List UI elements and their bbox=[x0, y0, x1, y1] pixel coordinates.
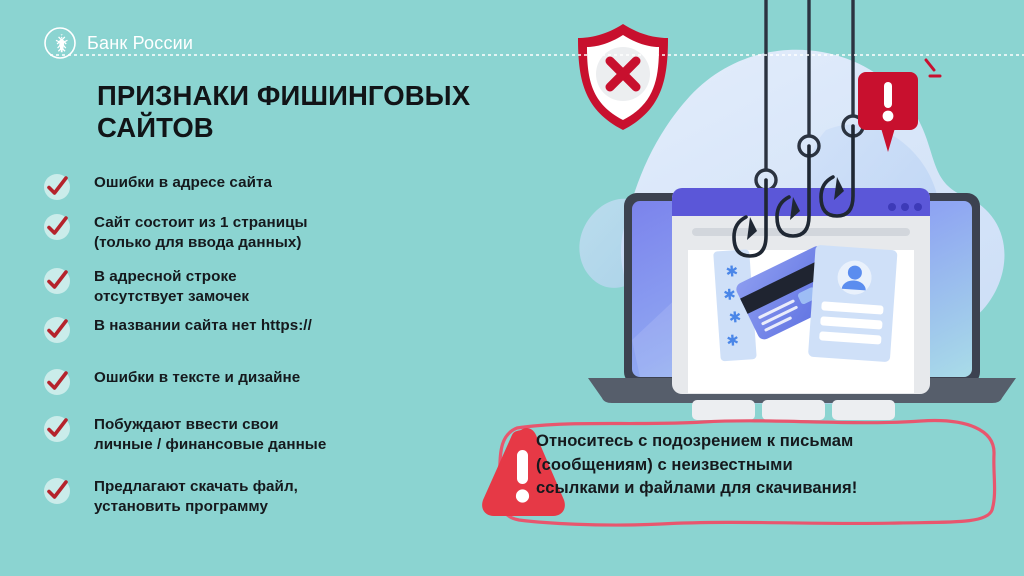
double-headed-eagle-emblem bbox=[44, 27, 76, 59]
list-item: Сайт состоит из 1 страницы (только для в… bbox=[42, 212, 308, 253]
brand-logo[interactable]: Банк России bbox=[44, 27, 193, 59]
red-check-icon bbox=[42, 172, 72, 202]
list-item-label: Сайт состоит из 1 страницы (только для в… bbox=[94, 213, 308, 253]
phishing-illustration: ✱ ✱ ✱ ✱ bbox=[540, 0, 1024, 420]
red-check-icon bbox=[42, 212, 72, 242]
dotted-rule bbox=[50, 54, 1024, 56]
list-item: В адресной строке отсутствует замочек bbox=[42, 266, 249, 307]
list-item-label: Предлагают скачать файл, установить прог… bbox=[94, 477, 298, 517]
list-item: Ошибки в тексте и дизайне bbox=[42, 367, 300, 397]
svg-text:✱: ✱ bbox=[725, 262, 739, 281]
list-item-label: Ошибки в тексте и дизайне bbox=[94, 368, 300, 388]
svg-text:✱: ✱ bbox=[728, 308, 742, 327]
infographic-root: ✱ ✱ ✱ ✱ bbox=[0, 0, 1024, 576]
shield-x-icon bbox=[578, 24, 668, 130]
red-check-icon bbox=[42, 367, 72, 397]
browser-dots bbox=[888, 203, 922, 211]
red-check-icon bbox=[42, 476, 72, 506]
list-item-label: Ошибки в адресе сайта bbox=[94, 173, 272, 193]
alert-spark-lines bbox=[926, 60, 940, 76]
warning-callout: Относитесь с подозрением к письмам (сооб… bbox=[489, 410, 1009, 532]
list-item: Ошибки в адресе сайта bbox=[42, 172, 272, 202]
list-item: В названии сайта нет https:// bbox=[42, 315, 312, 345]
brand-name: Банк России bbox=[87, 33, 193, 54]
svg-text:✱: ✱ bbox=[723, 285, 737, 304]
list-item-label: В адресной строке отсутствует замочек bbox=[94, 267, 249, 307]
list-item-label: В названии сайта нет https:// bbox=[94, 316, 312, 336]
red-check-icon bbox=[42, 315, 72, 345]
list-item-label: Побуждают ввести свои личные / финансовы… bbox=[94, 415, 326, 455]
list-item: Предлагают скачать файл, установить прог… bbox=[42, 476, 298, 517]
red-check-icon bbox=[42, 414, 72, 444]
list-item: Побуждают ввести свои личные / финансовы… bbox=[42, 414, 326, 455]
page-title: ПРИЗНАКИ ФИШИНГОВЫХ САЙТОВ bbox=[97, 80, 547, 145]
id-profile-card bbox=[808, 245, 898, 362]
red-check-icon bbox=[42, 266, 72, 296]
svg-text:✱: ✱ bbox=[726, 331, 740, 350]
callout-text: Относитесь с подозрением к письмам (сооб… bbox=[536, 429, 996, 500]
